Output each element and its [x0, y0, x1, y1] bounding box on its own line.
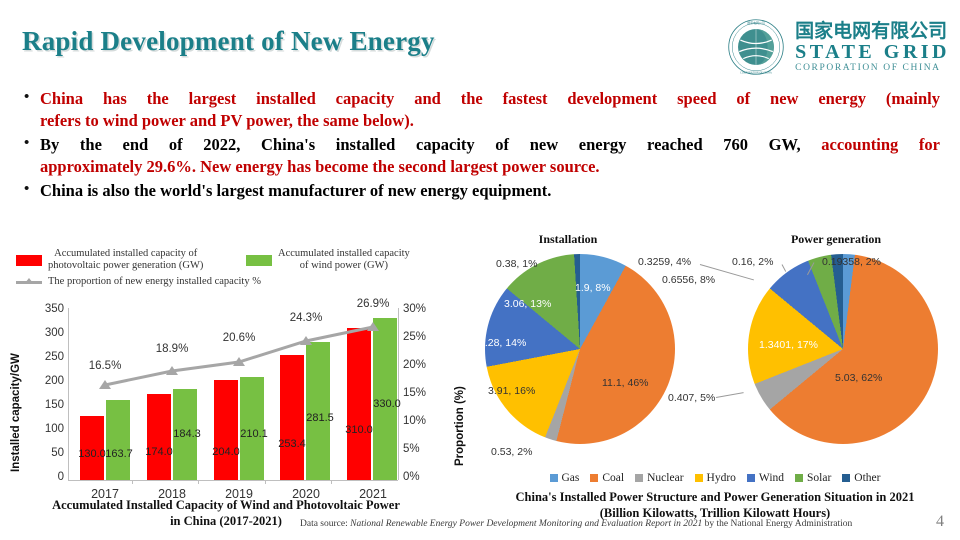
legend-pv-line-1: Accumulated installed capacity of — [48, 248, 203, 260]
brand-name-en: STATE GRID — [795, 42, 950, 62]
leader-line — [782, 264, 787, 272]
pie-label-gas-gen: 0.19358, 2% — [822, 256, 881, 269]
legend-item-photovoltaic: Accumulated installed capacity of photov… — [16, 248, 203, 272]
pie-label-solar: 3.06, 13% — [504, 298, 551, 311]
proportion-label: 24.3% — [283, 312, 329, 324]
bar-caption-line-1: Accumulated Installed Capacity of Wind a… — [16, 498, 436, 514]
power-generation-pie-title: Power generation — [766, 232, 906, 247]
bullet-2-line-1-black: By the end of 2022, China's installed ca… — [40, 135, 801, 154]
page-title: Rapid Development of New Energy — [22, 26, 435, 57]
pie-caption-line-1: China's Installed Power Structure and Po… — [470, 490, 960, 506]
legend-swatch-solar — [795, 474, 803, 482]
legend-swatch-wind — [747, 474, 755, 482]
legend-proportion-label: The proportion of new energy installed c… — [48, 276, 261, 288]
legend-label-hydro: Hydro — [707, 472, 736, 484]
legend-item-gas: Gas — [550, 472, 580, 484]
slide-number: 4 — [936, 513, 944, 531]
legend-item-nuclear: Nuclear — [635, 472, 683, 484]
legend-label-other: Other — [854, 472, 880, 484]
bullet-1-line-2: refers to wind power and PV power, the s… — [40, 111, 414, 130]
legend-item-wind: Accumulated installed capacity of wind p… — [246, 248, 410, 272]
bullet-2-line-2: approximately 29.6%. New energy has beco… — [40, 157, 600, 176]
data-source-note: Data source: National Renewable Energy P… — [300, 519, 920, 529]
legend-item-solar: Solar — [795, 472, 831, 484]
bullet-1-line-1: China has the largest installed capacity… — [40, 88, 940, 110]
legend-swatch-other — [842, 474, 850, 482]
pie-label-other-gen: 0.16, 2% — [732, 256, 773, 269]
list-item: • By the end of 2022, China's installed … — [24, 134, 940, 178]
legend-label-nuclear: Nuclear — [647, 472, 683, 484]
legend-item-other: Other — [842, 472, 880, 484]
pie-label-coal: 11.1, 46% — [602, 377, 649, 390]
pie-label-hydro-gen: 1.3401, 17% — [759, 339, 818, 352]
legend-swatch-wind — [246, 255, 272, 266]
bullet-marker: • — [24, 180, 40, 202]
legend-item-wind: Wind — [747, 472, 784, 484]
charts-area: Accumulated installed capacity of photov… — [0, 232, 960, 540]
proportion-label: 20.6% — [216, 332, 262, 344]
proportion-label: 26.9% — [350, 298, 396, 310]
brand-subtitle: CORPORATION OF CHINA — [795, 64, 950, 74]
bullet-list: • China has the largest installed capaci… — [24, 88, 940, 204]
installation-pie-title: Installation — [498, 232, 638, 247]
legend-item-hydro: Hydro — [695, 472, 736, 484]
proportion-label: 18.9% — [149, 343, 195, 355]
pie-label-solar-gen: 0.3259, 4% — [638, 256, 691, 269]
pie-chart-caption: China's Installed Power Structure and Po… — [470, 490, 960, 521]
legend-label-solar: Solar — [807, 472, 831, 484]
svg-text:国家电网公司: 国家电网公司 — [747, 20, 764, 25]
source-prefix: Data source: — [300, 519, 350, 529]
legend-swatch-hydro — [695, 474, 703, 482]
brand-logo: 国家电网公司 CORPORATION OF CHINA 国家电网有限公司 STA… — [727, 18, 950, 76]
legend-label-gas: Gas — [562, 472, 580, 484]
list-item: • China has the largest installed capaci… — [24, 88, 940, 132]
legend-swatch-nuclear — [635, 474, 643, 482]
bar-chart-legend: Accumulated installed capacity of photov… — [8, 240, 468, 288]
source-suffix: by the National Energy Administration — [702, 519, 852, 529]
legend-wind-line-2: of wind power (GW) — [278, 260, 410, 272]
legend-wind-line-1: Accumulated installed capacity — [278, 248, 410, 260]
legend-item-proportion: The proportion of new energy installed c… — [16, 276, 261, 288]
bullet-marker: • — [24, 88, 40, 132]
pie-label-hydro: 3.91, 16% — [488, 385, 535, 398]
leader-line — [716, 392, 744, 398]
bullet-2-line-1-red: accounting for — [821, 135, 940, 154]
pie-label-wind-gen: 0.6556, 8% — [662, 274, 715, 287]
legend-swatch-pv — [16, 255, 42, 266]
pie-label-wind: 3.28, 14% — [479, 337, 526, 350]
pie-chart-legend: Gas Coal Nuclear Hydro Wind Solar Other — [470, 472, 960, 484]
legend-marker-proportion — [16, 281, 42, 284]
state-grid-globe-icon: 国家电网公司 CORPORATION OF CHINA — [727, 18, 785, 76]
source-report-title: National Renewable Energy Power Developm… — [350, 519, 702, 529]
pie-label-gas: 1.9, 8% — [575, 282, 611, 295]
proportion-label: 16.5% — [82, 360, 128, 372]
list-item: • China is also the world's largest manu… — [24, 180, 940, 202]
pie-label-coal-gen: 5.03, 62% — [835, 372, 882, 385]
legend-label-wind: Wind — [759, 472, 784, 484]
legend-item-coal: Coal — [590, 472, 624, 484]
pie-label-nuclear: 0.53, 2% — [491, 446, 532, 459]
bullet-3-line-1: China is also the world's largest manufa… — [40, 180, 940, 202]
svg-text:CORPORATION OF CHINA: CORPORATION OF CHINA — [740, 72, 772, 75]
brand-name-cn: 国家电网有限公司 — [795, 22, 950, 41]
bullet-marker: • — [24, 134, 40, 178]
legend-swatch-gas — [550, 474, 558, 482]
bar-chart: Accumulated installed capacity of photov… — [8, 240, 468, 540]
legend-pv-line-2: photovoltaic power generation (GW) — [48, 260, 203, 272]
pie-label-other: 0.38, 1% — [496, 258, 537, 271]
pie-charts: Installation 0.38, 1% 1.9, 8% 3.06, 13% … — [470, 232, 960, 540]
legend-swatch-coal — [590, 474, 598, 482]
legend-label-coal: Coal — [602, 472, 624, 484]
pie-label-nuclear-gen: 0.407, 5% — [668, 392, 715, 405]
